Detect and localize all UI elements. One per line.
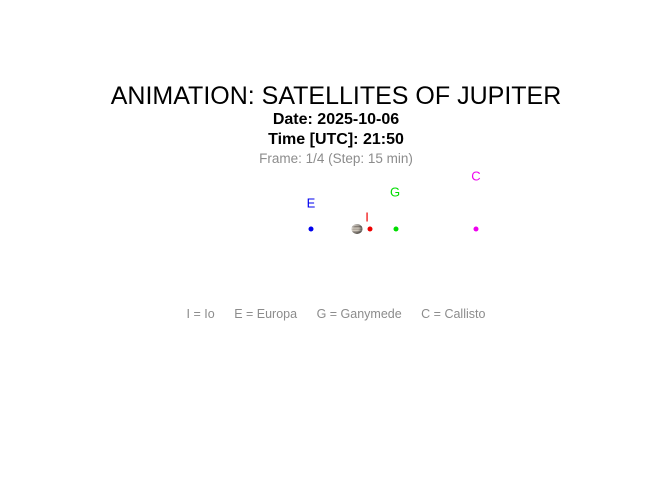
jupiter-disk bbox=[352, 224, 363, 234]
legend-item-ganymede: G = Ganymede bbox=[317, 307, 402, 321]
moon-marker-ganymede bbox=[394, 227, 399, 232]
legend-item-io: I = Io bbox=[187, 307, 215, 321]
legend-item-europa: E = Europa bbox=[234, 307, 297, 321]
moon-label-europa: E bbox=[307, 197, 316, 210]
legend-item-callisto: C = Callisto bbox=[421, 307, 485, 321]
moon-label-ganymede: G bbox=[390, 186, 400, 199]
moon-marker-callisto bbox=[474, 227, 479, 232]
satellite-plot-area: E I G C bbox=[0, 0, 672, 480]
figure-canvas: ANIMATION: SATELLITES OF JUPITER Date: 2… bbox=[0, 0, 672, 480]
legend: I = Io E = Europa G = Ganymede C = Calli… bbox=[0, 307, 672, 321]
moon-label-io: I bbox=[365, 211, 369, 224]
moon-marker-europa bbox=[309, 227, 314, 232]
moon-label-callisto: C bbox=[471, 170, 480, 183]
moon-marker-io bbox=[368, 227, 373, 232]
